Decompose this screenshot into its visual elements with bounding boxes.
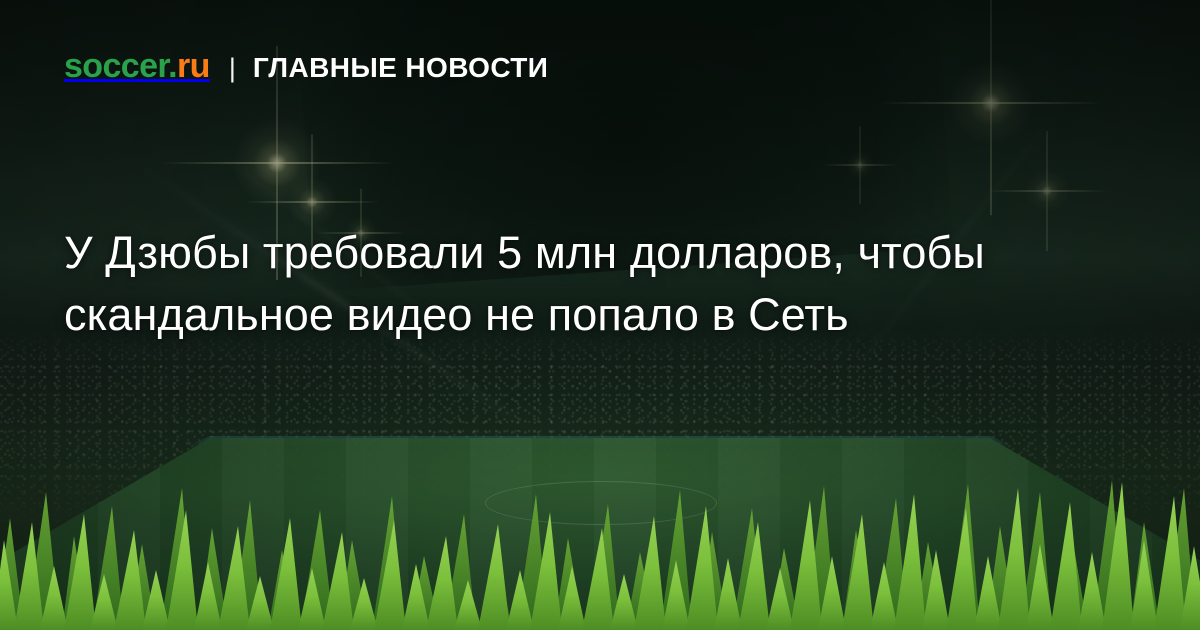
logo-name: soccer <box>64 47 168 85</box>
logo-tld: ru <box>177 47 210 85</box>
grass-silhouette <box>0 470 1200 630</box>
header-kicker: ГЛАВНЫЕ НОВОСТИ <box>253 54 548 82</box>
card-header: soccer.ru | ГЛАВНЫЕ НОВОСТИ <box>64 49 548 83</box>
site-logo[interactable]: soccer.ru <box>64 49 210 83</box>
social-share-card: soccer.ru | ГЛАВНЫЕ НОВОСТИ У Дзюбы треб… <box>0 0 1200 630</box>
logo-dot: . <box>168 47 177 85</box>
header-separator: | <box>229 55 236 82</box>
page-title: У Дзюбы требовали 5 млн долларов, чтобы … <box>64 222 1134 346</box>
